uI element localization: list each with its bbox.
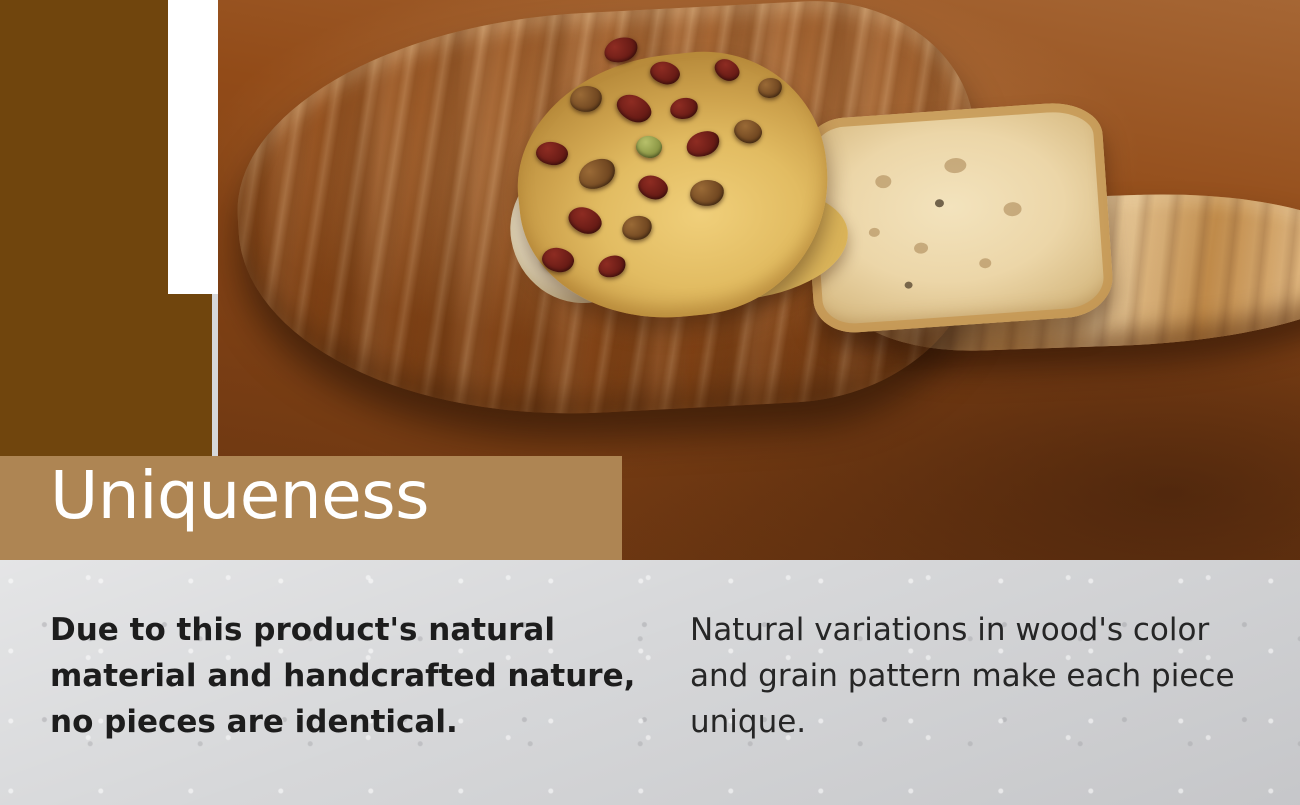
description-column-left: Due to this product's natural material a… — [50, 607, 655, 745]
white-accent-strip — [168, 0, 218, 294]
slide: Uniqueness Due to this product's natural… — [0, 0, 1300, 805]
bread-crust — [801, 100, 1115, 335]
bread-slice — [801, 100, 1115, 335]
description-column-right: Natural variations in wood's color and g… — [690, 607, 1250, 745]
page-title: Uniqueness — [50, 463, 429, 529]
brown-upper-block — [0, 0, 168, 294]
